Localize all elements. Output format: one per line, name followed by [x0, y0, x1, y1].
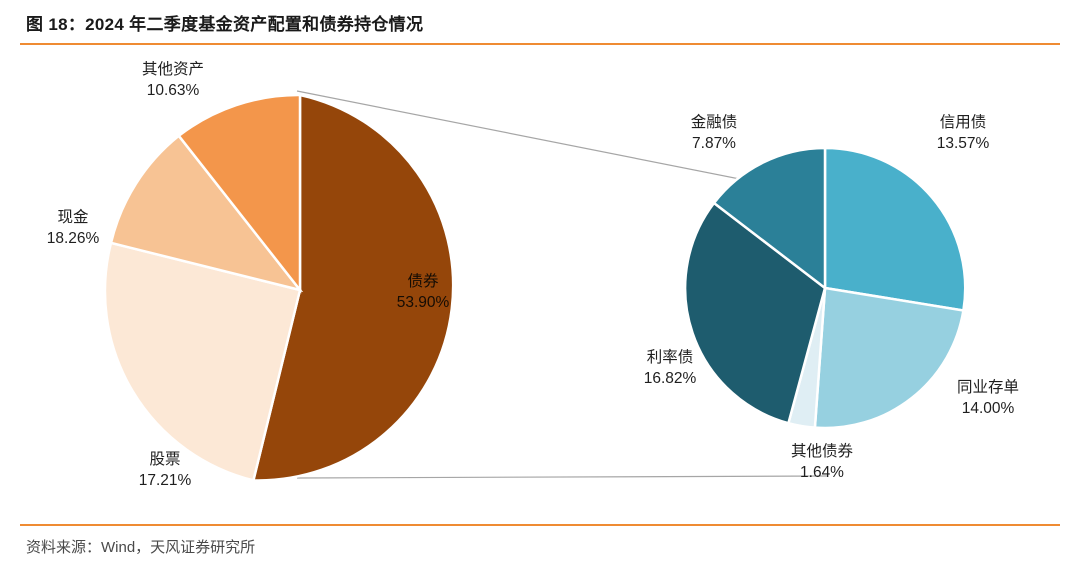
- left-pie-chart: [105, 95, 453, 480]
- pie-slice-ncd[interactable]: [815, 288, 964, 428]
- source-divider: [20, 524, 1060, 526]
- connector-line-bottom: [297, 476, 828, 478]
- figure-container: 图 18：2024 年二季度基金资产配置和债券持仓情况: [0, 0, 1080, 570]
- pie-slice-credit-bond[interactable]: [825, 148, 965, 311]
- pie-charts-svg: [0, 48, 1080, 518]
- right-pie-chart: [685, 148, 965, 428]
- chart-canvas: [0, 48, 1080, 518]
- title-divider: [20, 43, 1060, 45]
- source-note: 资料来源：Wind，天风证券研究所: [26, 536, 255, 557]
- page-title: 图 18：2024 年二季度基金资产配置和债券持仓情况: [26, 10, 423, 35]
